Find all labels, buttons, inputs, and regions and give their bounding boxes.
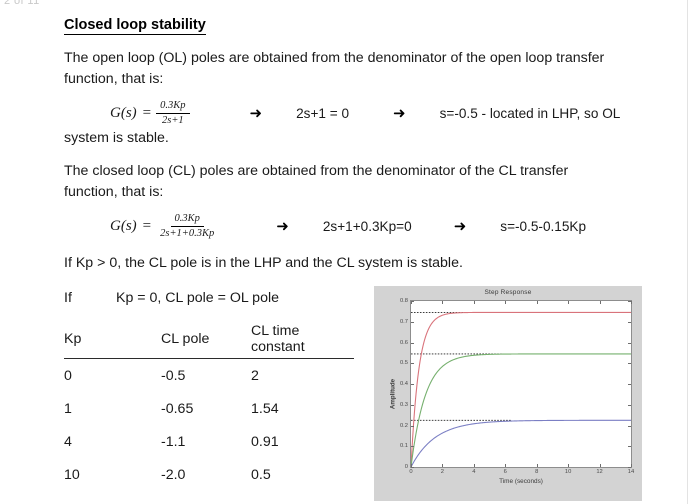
chart-x-tick-mark — [600, 301, 601, 304]
chart-y-tick-label: 0.5 — [400, 360, 408, 366]
cell-cl-tc: 0.91 — [251, 425, 354, 458]
chart-y-tick-mark — [411, 467, 414, 468]
chart-y-tick-label: 0 — [405, 464, 408, 470]
cell-cl-tc: 0.5 — [251, 458, 354, 491]
equation-cl-denominator: 2s+1+0.3Kp — [156, 227, 218, 240]
chart-y-tick-mark — [411, 363, 414, 364]
equation-ol-equals: = — [143, 105, 151, 122]
paragraph-open-loop: The open loop (OL) poles are obtained fr… — [64, 48, 624, 90]
if-condition-text: Kp = 0, CL pole = OL pole — [116, 288, 279, 309]
column-header-kp: Kp — [64, 323, 161, 359]
cell-kp: 4 — [64, 425, 161, 458]
arrow-right-icon: ➜ — [276, 217, 289, 235]
chart-y-tick-label: 0.4 — [400, 381, 408, 387]
arrow-right-icon: ➜ — [393, 104, 406, 122]
equation-cl-result: s=-0.5-0.15Kp — [500, 219, 586, 234]
equation-ol-middle: 2s+1 = 0 — [296, 106, 349, 121]
equation-cl-numerator: 0.3Kp — [171, 213, 204, 227]
chart-x-tick-label: 2 — [441, 469, 444, 475]
column-header-cl-pole: CL pole — [161, 323, 251, 359]
cell-cl-pole: -0.65 — [161, 392, 251, 425]
chart-y-tick-label: 0.8 — [400, 298, 408, 304]
table-header-row: Kp CL pole CL time constant — [64, 323, 354, 359]
chart-y-tick-mark — [628, 405, 631, 406]
chart-curves — [411, 301, 631, 467]
chart-y-tick-label: 0.1 — [400, 443, 408, 449]
paragraph-closed-loop: The closed loop (CL) poles are obtained … — [64, 161, 624, 203]
cell-kp: 1 — [64, 392, 161, 425]
chart-x-tick-label: 14 — [628, 469, 634, 475]
chart-x-tick-mark — [505, 301, 506, 304]
chart-x-tick-mark — [442, 301, 443, 304]
chart-x-tick-mark — [631, 301, 632, 304]
chart-plot-area — [411, 301, 631, 467]
equation-cl-lhs: G(s) — [110, 218, 137, 235]
chart-x-tick-mark — [505, 464, 506, 467]
chart-x-tick-mark — [411, 464, 412, 467]
table-row: 1 -0.65 1.54 — [64, 392, 354, 425]
equation-closed-loop: G(s) = 0.3Kp 2s+1+0.3Kp ➜ 2s+1+0.3Kp=0 ➜… — [64, 213, 679, 239]
chart-y-tick-mark — [628, 384, 631, 385]
equation-ol-fraction: 0.3Kp 2s+1 — [156, 100, 189, 126]
chart-x-tick-mark — [631, 464, 632, 467]
cell-cl-pole: -1.1 — [161, 425, 251, 458]
text-system-stable: system is stable. — [64, 128, 679, 149]
chart-x-tick-label: 4 — [472, 469, 475, 475]
equation-ol-numerator: 0.3Kp — [156, 100, 189, 114]
chart-y-tick-mark — [628, 343, 631, 344]
page-edge-divider — [687, 0, 688, 504]
chart-x-axis-label: Time (seconds) — [410, 478, 632, 485]
equation-cl-equals: = — [143, 218, 151, 235]
chart-x-tick-mark — [568, 301, 569, 304]
chart-y-tick-mark — [628, 426, 631, 427]
chart-x-tick-mark — [474, 464, 475, 467]
chart-series-curves — [411, 312, 631, 467]
chart-axes: 00.10.20.30.40.50.60.70.8 02468101214 — [410, 300, 632, 468]
chart-y-tick-mark — [411, 384, 414, 385]
arrow-right-icon: ➜ — [454, 217, 467, 235]
step-response-figure: Step Response Amplitude 00.10.20.30.40.5… — [374, 286, 642, 501]
chart-curve — [411, 354, 631, 467]
equation-ol-denominator: 2s+1 — [158, 114, 188, 127]
chart-x-tick-label: 0 — [409, 469, 412, 475]
chart-y-tick-mark — [628, 467, 631, 468]
chart-x-tick-mark — [474, 301, 475, 304]
cell-kp: 10 — [64, 458, 161, 491]
cell-cl-pole: -2.0 — [161, 458, 251, 491]
table-row: 10 -2.0 0.5 — [64, 458, 354, 491]
chart-x-tick-label: 8 — [535, 469, 538, 475]
equation-cl-middle: 2s+1+0.3Kp=0 — [323, 219, 412, 234]
chart-x-tick-mark — [600, 464, 601, 467]
chart-x-tick-mark — [442, 464, 443, 467]
equation-ol-expression: G(s) = 0.3Kp 2s+1 ➜ 2s+1 = 0 ➜ s=-0.5 - … — [110, 100, 620, 126]
statement-cl-stable: If Kp > 0, the CL pole is in the LHP and… — [64, 253, 624, 274]
equation-open-loop: G(s) = 0.3Kp 2s+1 ➜ 2s+1 = 0 ➜ s=-0.5 - … — [64, 100, 679, 126]
document-page: 2 of 11 Closed loop stability The open l… — [0, 0, 700, 504]
column-header-cl-time-const: CL time constant — [251, 323, 354, 359]
chart-y-tick-mark — [411, 446, 414, 447]
chart-y-tick-label: 0.6 — [400, 340, 408, 346]
chart-y-tick-mark — [411, 322, 414, 323]
equation-ol-result: s=-0.5 - located in LHP, so OL — [440, 106, 621, 121]
chart-curve — [411, 420, 631, 467]
page-indicator: 2 of 11 — [4, 0, 40, 7]
cell-kp: 0 — [64, 359, 161, 393]
chart-curve — [411, 312, 631, 467]
cell-cl-tc: 1.54 — [251, 392, 354, 425]
chart-y-tick-mark — [628, 363, 631, 364]
chart-x-tick-mark — [568, 464, 569, 467]
if-keyword: If — [64, 288, 116, 309]
chart-y-axis-label: Amplitude — [390, 378, 397, 408]
chart-y-tick-mark — [411, 343, 414, 344]
pole-table: Kp CL pole CL time constant 0 -0.5 2 1 -… — [64, 323, 354, 491]
chart-title: Step Response — [374, 289, 642, 296]
table-row: 4 -1.1 0.91 — [64, 425, 354, 458]
chart-y-tick-mark — [628, 322, 631, 323]
cell-cl-tc: 2 — [251, 359, 354, 393]
chart-y-tick-label: 0.7 — [400, 319, 408, 325]
chart-reference-lines — [411, 312, 631, 420]
chart-y-tick-label: 0.2 — [400, 423, 408, 429]
chart-x-tick-mark — [537, 301, 538, 304]
cell-cl-pole: -0.5 — [161, 359, 251, 393]
chart-x-tick-mark — [411, 301, 412, 304]
chart-y-tick-mark — [411, 405, 414, 406]
equation-ol-lhs: G(s) — [110, 105, 137, 122]
table-row: 0 -0.5 2 — [64, 359, 354, 393]
chart-x-tick-mark — [537, 464, 538, 467]
chart-x-tick-label: 12 — [596, 469, 602, 475]
equation-cl-expression: G(s) = 0.3Kp 2s+1+0.3Kp ➜ 2s+1+0.3Kp=0 ➜… — [110, 213, 586, 239]
arrow-right-icon: ➜ — [250, 104, 263, 122]
chart-y-tick-mark — [411, 426, 414, 427]
page-title: Closed loop stability — [64, 17, 206, 35]
chart-x-tick-label: 10 — [565, 469, 571, 475]
chart-y-tick-mark — [628, 446, 631, 447]
chart-x-tick-label: 6 — [504, 469, 507, 475]
chart-y-tick-label: 0.3 — [400, 402, 408, 408]
equation-cl-fraction: 0.3Kp 2s+1+0.3Kp — [156, 213, 218, 239]
